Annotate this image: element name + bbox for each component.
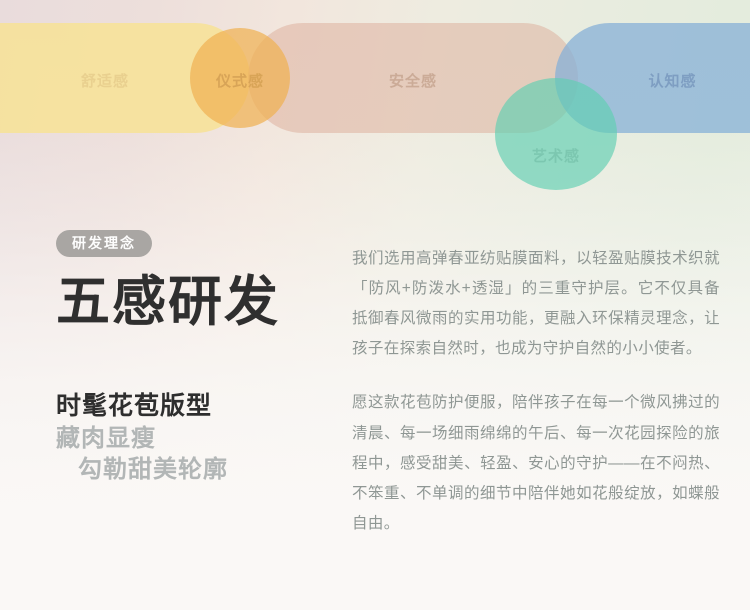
product-feature-page: 舒适感 仪式感 安全感 认知感 艺术感 研发理念 五感研发 时髦花苞版型 藏肉显… xyxy=(0,0,750,610)
page-title: 五感研发 xyxy=(56,273,326,331)
left-content-column: 研发理念 五感研发 时髦花苞版型 藏肉显瘦 勾勒甜美轮廓 xyxy=(56,230,326,486)
five-senses-venn-diagram: 舒适感 仪式感 安全感 认知感 艺术感 xyxy=(0,0,750,210)
subtitle-line-1: 藏肉显瘦 xyxy=(56,423,326,455)
section-badge: 研发理念 xyxy=(56,230,152,257)
subtitle-block: 时髦花苞版型 藏肉显瘦 勾勒甜美轮廓 xyxy=(56,391,326,486)
right-content-column: 我们选用高弹春亚纺贴膜面料，以轻盈贴膜技术织就「防风+防泼水+透湿」的三重守护层… xyxy=(352,228,720,555)
subtitle-heading: 时髦花苞版型 xyxy=(56,391,326,422)
description-paragraph-2: 愿这款花苞防护便服，陪伴孩子在每一个微风拂过的清晨、每一场细雨绵绵的午后、每一次… xyxy=(352,388,720,539)
subtitle-line-2: 勾勒甜美轮廓 xyxy=(56,454,326,486)
venn-ellipse-ritual xyxy=(190,28,290,128)
venn-circle-art xyxy=(495,78,617,190)
description-paragraph-1: 我们选用高弹春亚纺贴膜面料，以轻盈贴膜技术织就「防风+防泼水+透湿」的三重守护层… xyxy=(352,244,720,365)
